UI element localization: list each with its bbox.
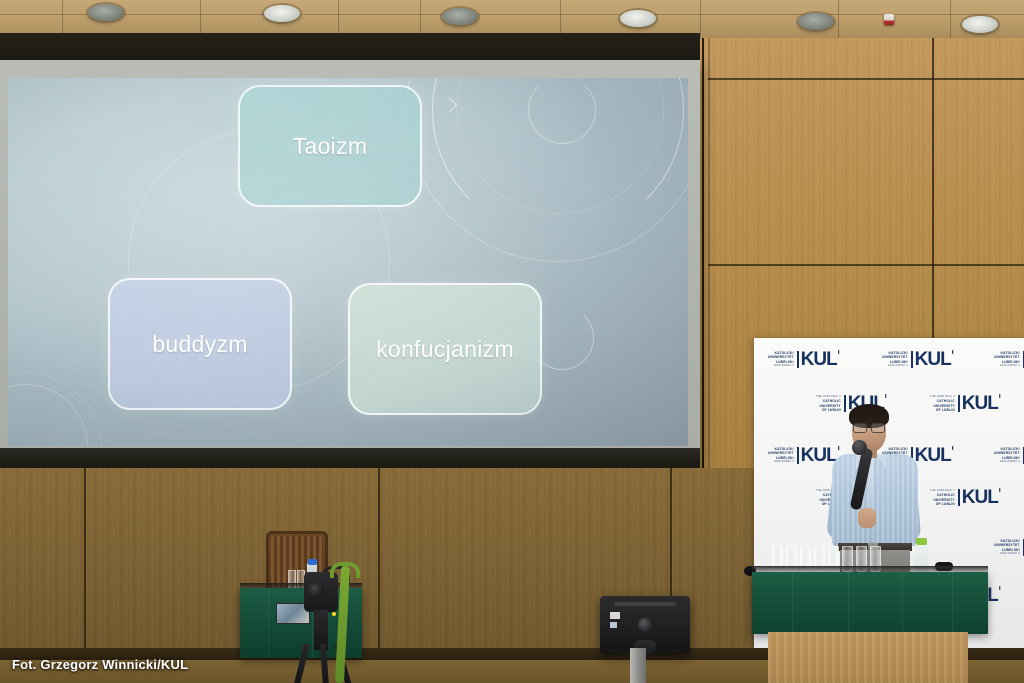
kul-logo-text: KATOLICKI UNIWERSYTET LUBELSKI JANA PAWŁ… (768, 351, 794, 368)
speaker-table (752, 572, 988, 634)
kul-wordmark: KULII (911, 350, 953, 369)
monitor-sticker (610, 612, 620, 619)
bottle-cap (916, 538, 927, 545)
kul-logo-text: KATOLICKI UNIWERSYTET LUBELSKI JANA PAWŁ… (882, 351, 908, 368)
bottle-cap (308, 559, 317, 565)
kul-logo: KATOLICKI UNIWERSYTET LUBELSKI JANA PAWŁ… (882, 350, 953, 369)
kul-logo: KATOLICKI UNIWERSYTET LUBELSKI JANA PAWŁ… (994, 446, 1024, 465)
monitor-vent (614, 602, 676, 606)
slide-box-label: buddyzm (152, 331, 247, 358)
kul-logo-text: THE JOHN PAUL II CATHOLIC UNIVERSITY OF … (930, 489, 955, 506)
slide-box-konfucjanizm: konfucjanizm (348, 283, 542, 415)
kul-wordmark: KULII (797, 350, 839, 369)
camera-lens-icon (308, 582, 324, 598)
presenter-shirt (832, 454, 918, 546)
hud-ring-lower-left-2 (8, 372, 102, 446)
tripod-leg (294, 643, 310, 683)
photo-credit-watermark: Fot. Grzegorz Winnicki/KUL (12, 657, 188, 672)
kul-wordmark: KULII (958, 488, 1000, 507)
kul-logo: KATOLICKI UNIWERSYTET LUBELSKI JANA PAWŁ… (994, 538, 1024, 557)
camera-record-led (332, 612, 336, 616)
kul-logo-text: KATOLICKI UNIWERSYTET LUBELSKI JANA PAWŁ… (994, 351, 1020, 368)
ceiling-light (264, 5, 300, 22)
kul-logo: KATOLICKI UNIWERSYTET LUBELSKI JANA PAWŁ… (768, 350, 839, 369)
kul-wordmark: KULII (958, 394, 1000, 413)
kul-logo-text: KATOLICKI UNIWERSYTET LUBELSKI JANA PAWŁ… (994, 539, 1020, 556)
ceiling-light (620, 10, 656, 27)
kul-logo-text: THE JOHN PAUL II CATHOLIC UNIVERSITY OF … (930, 395, 955, 412)
monitor-stand (630, 648, 646, 683)
dell-logo-icon (638, 618, 652, 632)
kul-logo-text: KATOLICKI UNIWERSYTET LUBELSKI JANA PAWŁ… (768, 447, 794, 464)
ceiling-light (442, 8, 478, 25)
ceiling-light (88, 4, 124, 21)
slide-box-label: konfucjanizm (376, 336, 514, 363)
podium-base (768, 632, 968, 683)
lecture-hall-photo: Taoizm buddyzm konfucjanizm KATOLICKI UN… (0, 0, 1024, 683)
shirt-collar-right (876, 454, 886, 468)
kul-logo-text: KATOLICKI UNIWERSYTET LUBELSKI JANA PAWŁ… (994, 447, 1020, 464)
kul-logo: THE JOHN PAUL II CATHOLIC UNIVERSITY OF … (930, 394, 1000, 413)
slide-box-label: Taoizm (293, 133, 368, 160)
projection-screen: Taoizm buddyzm konfucjanizm (0, 60, 700, 472)
shirt-placket (869, 456, 873, 544)
monitor-sticker (610, 622, 617, 628)
presenter-hand (858, 508, 876, 528)
slide-box-taoizm: Taoizm (238, 85, 422, 207)
smoke-detector-icon (884, 14, 894, 25)
presentation-slide: Taoizm buddyzm konfucjanizm (8, 78, 688, 446)
kul-logo: THE JOHN PAUL II CATHOLIC UNIVERSITY OF … (930, 488, 1000, 507)
ceiling-light (962, 16, 998, 33)
ceiling-light (798, 13, 834, 30)
hud-ring-inner (528, 78, 596, 144)
slide-box-buddyzm: buddyzm (108, 278, 292, 410)
kul-logo: KATOLICKI UNIWERSYTET LUBELSKI JANA PAWŁ… (994, 350, 1024, 369)
eyeglasses-icon (853, 423, 885, 431)
